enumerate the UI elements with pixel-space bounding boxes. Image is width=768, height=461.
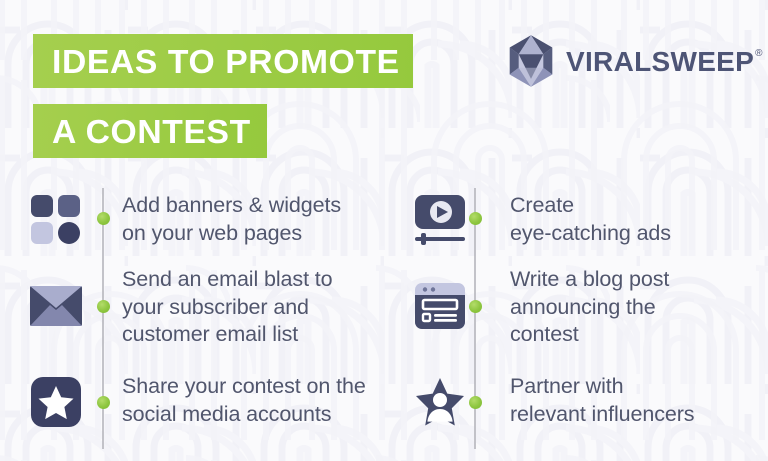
tips-column-right: Create eye-catching ads <box>404 178 768 461</box>
timeline-dot <box>469 212 482 225</box>
tip-text: Create eye-catching ads <box>510 192 760 247</box>
title-bar-line-2: A CONTEST <box>33 104 267 158</box>
page-title-line-2: A CONTEST <box>52 115 251 148</box>
widgets-grid-icon <box>28 192 84 248</box>
page-title-line-1: IDEAS TO PROMOTE <box>52 45 400 78</box>
star-square-icon <box>28 374 84 430</box>
influencer-star-icon <box>412 374 468 430</box>
tip-text: Write a blog post announcing the contest <box>510 266 760 349</box>
video-player-icon <box>412 192 468 248</box>
header: IDEAS TO PROMOTE A CONTEST <box>0 0 768 175</box>
timeline-dot <box>97 212 110 225</box>
infographic-canvas: IDEAS TO PROMOTE A CONTEST <box>0 0 768 461</box>
tips-column-left: Add banners & widgets on your web pages … <box>0 178 404 461</box>
tip-text: Share your contest on the social media a… <box>122 373 396 428</box>
tip-text: Add banners & widgets on your web pages <box>122 192 396 247</box>
timeline-dot <box>97 396 110 409</box>
tip-text: Partner with relevant influencers <box>510 373 760 428</box>
tips-columns: Add banners & widgets on your web pages … <box>0 178 768 461</box>
viralsweep-logo[interactable]: VIRALSWEEP ® <box>503 33 763 89</box>
title-bar-line-1: IDEAS TO PROMOTE <box>33 34 413 88</box>
timeline-rail-left <box>102 188 104 449</box>
viralsweep-gem-logo-icon <box>503 33 559 89</box>
envelope-icon <box>28 278 84 334</box>
timeline-rail-right <box>474 188 476 449</box>
registered-trademark-symbol: ® <box>755 49 763 59</box>
timeline-dot <box>469 396 482 409</box>
logo-wordmark: VIRALSWEEP <box>566 48 754 76</box>
timeline-dot <box>469 300 482 313</box>
logo-wordmark-group: VIRALSWEEP ® <box>566 48 763 76</box>
browser-window-icon <box>412 278 468 334</box>
timeline-dot <box>97 300 110 313</box>
tip-text: Send an email blast to your subscriber a… <box>122 266 396 349</box>
